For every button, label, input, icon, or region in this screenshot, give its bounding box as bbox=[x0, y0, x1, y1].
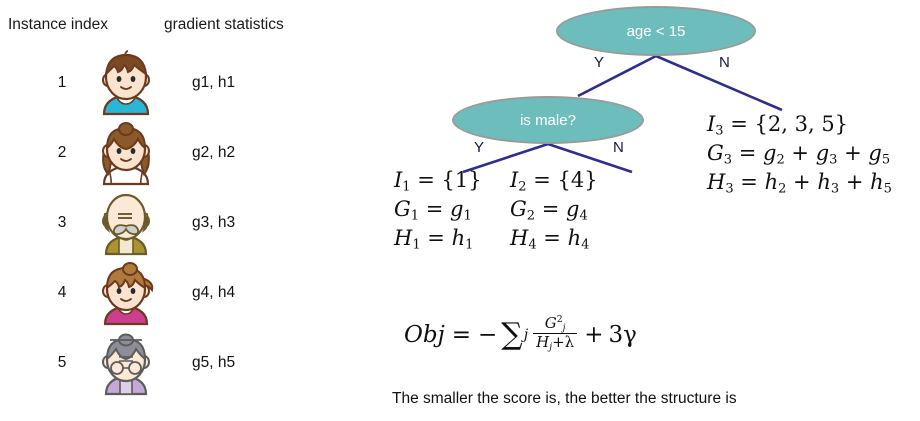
tree-node-root[interactable]: age < 15 bbox=[556, 6, 756, 56]
leaf-stats-right: I3 = {2, 3, 5} G3 = g2 + g3 + g5 H3 = h2… bbox=[707, 110, 892, 197]
row-index-label: 2 bbox=[52, 144, 72, 162]
leaf-mid-H: H4 = h4 bbox=[510, 224, 598, 253]
figure-caption: The smaller the score is, the better the… bbox=[392, 390, 737, 408]
tree-node-is-male[interactable]: is male? bbox=[452, 96, 644, 144]
edge-label-male-no: N bbox=[613, 139, 624, 156]
objective-formula: Obj = − ∑j G2j Hj+λ + 3γ bbox=[404, 317, 637, 352]
row-gradient-stats: g4, h4 bbox=[192, 284, 235, 302]
table-row: 4 g4, h4 bbox=[0, 258, 330, 328]
table-row: 5 g5, h5 bbox=[0, 328, 330, 398]
edge-label-male-yes: Y bbox=[474, 139, 484, 156]
table-row: 3 g3, h3 bbox=[0, 188, 330, 258]
leaf-right-G: G3 = g2 + g3 + g5 bbox=[707, 139, 892, 168]
tree-node-root-label: age < 15 bbox=[627, 23, 686, 40]
obj-equals: = bbox=[452, 322, 471, 348]
girl-braids-white-top-icon bbox=[94, 120, 158, 186]
leaf-left-H: H1 = h1 bbox=[394, 224, 482, 253]
leaf-left-G: G1 = g1 bbox=[394, 195, 482, 224]
table-row: 2 g2, h2 bbox=[0, 118, 330, 188]
obj-tail: 3γ bbox=[608, 322, 636, 348]
row-gradient-stats: g3, h3 bbox=[192, 214, 235, 232]
girl-ponytail-pink-shirt-icon bbox=[94, 260, 158, 326]
leaf-stats-left: I1 = {1} G1 = g1 H1 = h1 bbox=[394, 166, 482, 253]
leaf-stats-middle: I2 = {4} G2 = g4 H4 = h4 bbox=[510, 166, 598, 253]
edge-label-root-yes: Y bbox=[594, 54, 604, 71]
obj-lhs: Obj bbox=[404, 322, 445, 348]
boy-brown-hair-cyan-shirt-icon bbox=[94, 50, 158, 116]
column-header-gradient-statistics: gradient statistics bbox=[164, 16, 284, 34]
obj-denominator: Hj+λ bbox=[533, 333, 577, 351]
table-row: 1 g1, h1 bbox=[0, 48, 330, 118]
leaf-right-H-terms: h2 + h3 + h5 bbox=[765, 170, 892, 194]
row-index-label: 4 bbox=[52, 284, 72, 302]
leaf-right-I: I3 = {2, 3, 5} bbox=[707, 110, 892, 139]
row-index-label: 5 bbox=[52, 354, 72, 372]
obj-fraction: G2j Hj+λ bbox=[533, 316, 577, 351]
tree-node-is-male-label: is male? bbox=[520, 112, 576, 129]
edge-label-root-no: N bbox=[719, 54, 730, 71]
obj-plus: + bbox=[584, 322, 603, 348]
old-man-mustache-olive-shirt-icon bbox=[94, 190, 158, 256]
leaf-left-I: I1 = {1} bbox=[394, 166, 482, 195]
leaf-right-H: H3 = h2 + h3 + h5 bbox=[707, 168, 892, 197]
leaf-mid-G: G2 = g4 bbox=[510, 195, 598, 224]
row-gradient-stats: g2, h2 bbox=[192, 144, 235, 162]
old-woman-glasses-lavender-top-icon bbox=[94, 330, 158, 396]
column-header-instance-index: Instance index bbox=[8, 16, 108, 34]
obj-minus: − bbox=[478, 322, 497, 348]
row-gradient-stats: g1, h1 bbox=[192, 74, 235, 92]
row-gradient-stats: g5, h5 bbox=[192, 354, 235, 372]
row-index-label: 1 bbox=[52, 74, 72, 92]
row-index-label: 3 bbox=[52, 214, 72, 232]
summation-icon: ∑ bbox=[501, 317, 522, 352]
leaf-mid-I: I2 = {4} bbox=[510, 166, 598, 195]
figure-canvas: Instance index gradient statistics 1 g1,… bbox=[0, 0, 920, 421]
leaf-right-G-terms: g2 + g3 + g5 bbox=[763, 141, 890, 165]
obj-numerator: G2j bbox=[542, 316, 569, 333]
